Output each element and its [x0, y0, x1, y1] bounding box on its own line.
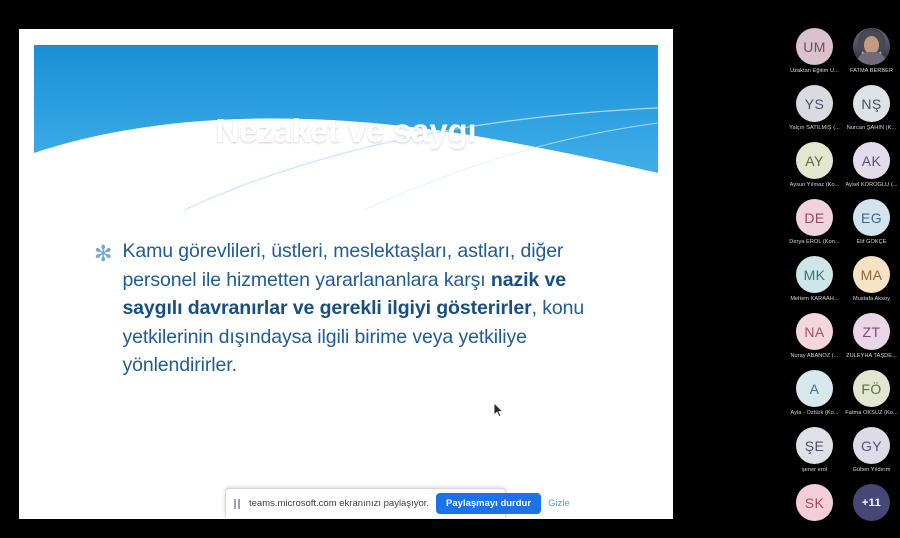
- participant-name: ZÜLEYHA TAŞDE...: [846, 353, 897, 359]
- participant-avatar-initials: GY: [853, 427, 890, 464]
- participant-avatar-initials: EG: [853, 199, 890, 236]
- participant-avatar-initials: AY: [796, 142, 833, 179]
- participant-name: Ayla - Öztürk (Ko...: [790, 410, 838, 416]
- slide-body-text: Kamu görevlileri, üstleri, meslektaşları…: [122, 237, 614, 380]
- slide-title: Nezaket ve saygı: [34, 112, 658, 150]
- participant-tile[interactable]: AAyla - Öztürk (Ko...: [786, 367, 843, 424]
- participant-avatar-initials: NŞ: [853, 85, 890, 122]
- screen-share-notification: teams.microsoft.com ekranınızı paylaşıyo…: [225, 488, 506, 518]
- participant-tile[interactable]: AYAysun Yılmaz (Ko...: [786, 139, 843, 196]
- participant-tile[interactable]: MAMustafa Aksoy: [843, 253, 900, 310]
- participant-photo: [853, 28, 890, 65]
- participant-tile[interactable]: AKAysel KOROĞLU (...: [843, 139, 900, 196]
- bullet-icon: ✻: [94, 237, 112, 380]
- share-message: teams.microsoft.com ekranınızı paylaşıyo…: [249, 498, 429, 509]
- participant-name: Uzaktan Eğitim U...: [790, 68, 839, 74]
- participant-avatar-initials: FÖ: [853, 370, 890, 407]
- participant-avatar-initials: ZT: [853, 313, 890, 350]
- participant-overflow-tile[interactable]: +11: [843, 481, 900, 538]
- participant-name: FATMA BERBER: [850, 68, 893, 74]
- shared-screen-region[interactable]: Nezaket ve saygı ✻ Kamu görevlileri, üst…: [19, 29, 673, 519]
- participant-name: Nuray ABANOZ (...: [790, 353, 838, 359]
- participant-tile[interactable]: SK: [786, 481, 843, 538]
- participant-name: Meltem KARAAH...: [790, 296, 838, 302]
- participant-name: Elif GÖKÇE: [856, 239, 886, 245]
- participant-roster[interactable]: UMUzaktan Eğitim U...FATMA BERBERYSYalçı…: [786, 25, 900, 519]
- powerpoint-slide[interactable]: Nezaket ve saygı ✻ Kamu görevlileri, üst…: [34, 45, 658, 519]
- participant-avatar-initials: MA: [853, 256, 890, 293]
- participant-avatar-initials: MK: [796, 256, 833, 293]
- participant-tile[interactable]: FÖFatma ÖKSÜZ (Ko...: [843, 367, 900, 424]
- hide-link[interactable]: Gizle: [548, 498, 572, 509]
- participant-tile[interactable]: FATMA BERBER: [843, 25, 900, 82]
- mouse-cursor-icon: [493, 402, 505, 418]
- participant-avatar-initials: YS: [796, 85, 833, 122]
- participant-name: Gülten Yıldırım: [853, 467, 891, 473]
- participant-tile[interactable]: NŞNurcan ŞAHİN (K...: [843, 82, 900, 139]
- participant-name: Fatma ÖKSÜZ (Ko...: [845, 410, 898, 416]
- overflow-count-badge[interactable]: +11: [853, 484, 890, 521]
- participant-name: Aysel KOROĞLU (...: [845, 182, 897, 188]
- participant-avatar-initials: SK: [796, 484, 833, 521]
- participant-name: şener erol: [802, 467, 827, 473]
- participant-tile[interactable]: NANuray ABANOZ (...: [786, 310, 843, 367]
- participant-name: Yalçın SATILMIŞ (...: [789, 125, 840, 131]
- participant-tile[interactable]: YSYalçın SATILMIŞ (...: [786, 82, 843, 139]
- participant-name: Nurcan ŞAHİN (K...: [847, 125, 896, 131]
- participant-tile[interactable]: ŞEşener erol: [786, 424, 843, 481]
- meeting-stage: Nezaket ve saygı ✻ Kamu görevlileri, üst…: [0, 0, 900, 519]
- participant-tile[interactable]: MKMeltem KARAAH...: [786, 253, 843, 310]
- participant-avatar-initials: ŞE: [796, 427, 833, 464]
- participant-name: Derya EROL (Kon...: [789, 239, 839, 245]
- participant-avatar-initials: AK: [853, 142, 890, 179]
- participant-tile[interactable]: GYGülten Yıldırım: [843, 424, 900, 481]
- pause-icon[interactable]: [234, 499, 242, 509]
- participant-avatar-initials: DE: [796, 199, 833, 236]
- slide-body: ✻ Kamu görevlileri, üstleri, meslektaşla…: [94, 237, 614, 380]
- participant-tile[interactable]: EGElif GÖKÇE: [843, 196, 900, 253]
- stop-sharing-button[interactable]: Paylaşmayı durdur: [436, 493, 541, 514]
- participant-tile[interactable]: DEDerya EROL (Kon...: [786, 196, 843, 253]
- participant-avatar-initials: A: [796, 370, 833, 407]
- participant-tile[interactable]: ZTZÜLEYHA TAŞDE...: [843, 310, 900, 367]
- participant-avatar-initials: UM: [796, 28, 833, 65]
- participant-name: Aysun Yılmaz (Ko...: [790, 182, 840, 188]
- participant-name: Mustafa Aksoy: [853, 296, 890, 302]
- participant-tile[interactable]: UMUzaktan Eğitim U...: [786, 25, 843, 82]
- participant-avatar-initials: NA: [796, 313, 833, 350]
